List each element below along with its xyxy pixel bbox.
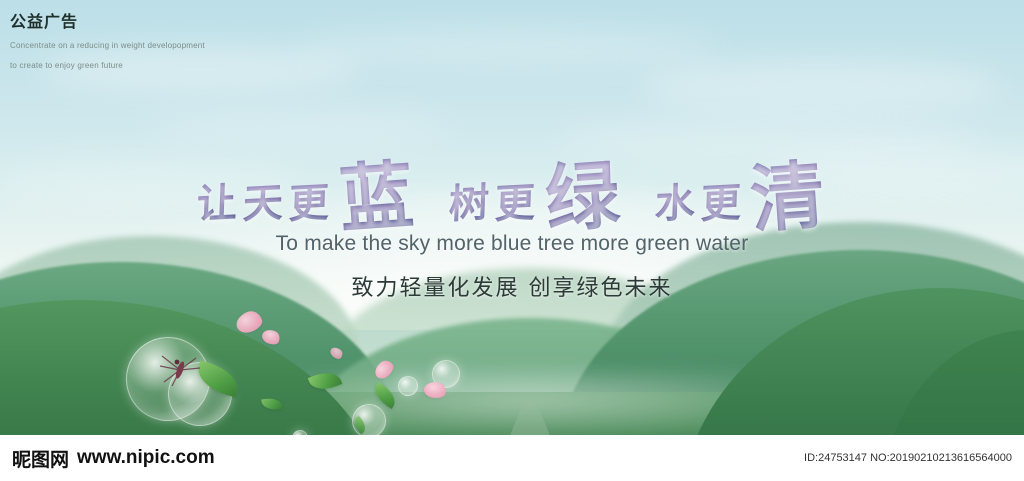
headline-char: 天 bbox=[242, 170, 284, 230]
headline-char: 更 bbox=[494, 170, 536, 230]
subtitle-english: To make the sky more blue tree more gree… bbox=[0, 232, 1024, 256]
headline-char-emphasis: 绿 bbox=[541, 136, 622, 248]
header-subtitle-line1: Concentrate on a reducing in weight deve… bbox=[10, 39, 1024, 52]
header-subtitle-line2: to create to enjoy green future bbox=[10, 59, 1024, 72]
image-id-text: ID:24753147 NO:20190210213616564000 bbox=[804, 452, 1012, 464]
soap-bubble-icon bbox=[398, 376, 418, 396]
brand-logo-text: 昵图网 bbox=[12, 445, 69, 472]
dragonfly-icon bbox=[150, 348, 210, 392]
subtitle-chinese: 致力轻量化发展 创享绿色未来 bbox=[0, 270, 1024, 302]
headline-char: 更 bbox=[288, 170, 330, 230]
brand-url-link[interactable]: www.nipic.com bbox=[77, 447, 215, 469]
brand-block[interactable]: 昵图网 www.nipic.com bbox=[12, 445, 215, 472]
footer-bar: 昵图网 www.nipic.com ID:24753147 NO:2019021… bbox=[0, 435, 1024, 481]
headline-char: 水 bbox=[653, 170, 695, 230]
headline-char: 更 bbox=[700, 170, 742, 230]
headline-calligraphy: 让 天 更 蓝 树 更 绿 水 更 清 bbox=[0, 132, 1024, 239]
header-block: 公益广告 Concentrate on a reducing in weight… bbox=[0, 0, 1024, 72]
headline-char: 树 bbox=[448, 170, 490, 230]
headline-char-emphasis: 蓝 bbox=[335, 136, 416, 248]
poster-canvas: 公益广告 Concentrate on a reducing in weight… bbox=[0, 0, 1024, 481]
page-title: 公益广告 bbox=[10, 8, 1024, 32]
headline-char-emphasis: 清 bbox=[747, 136, 828, 248]
headline-char: 让 bbox=[195, 170, 237, 230]
